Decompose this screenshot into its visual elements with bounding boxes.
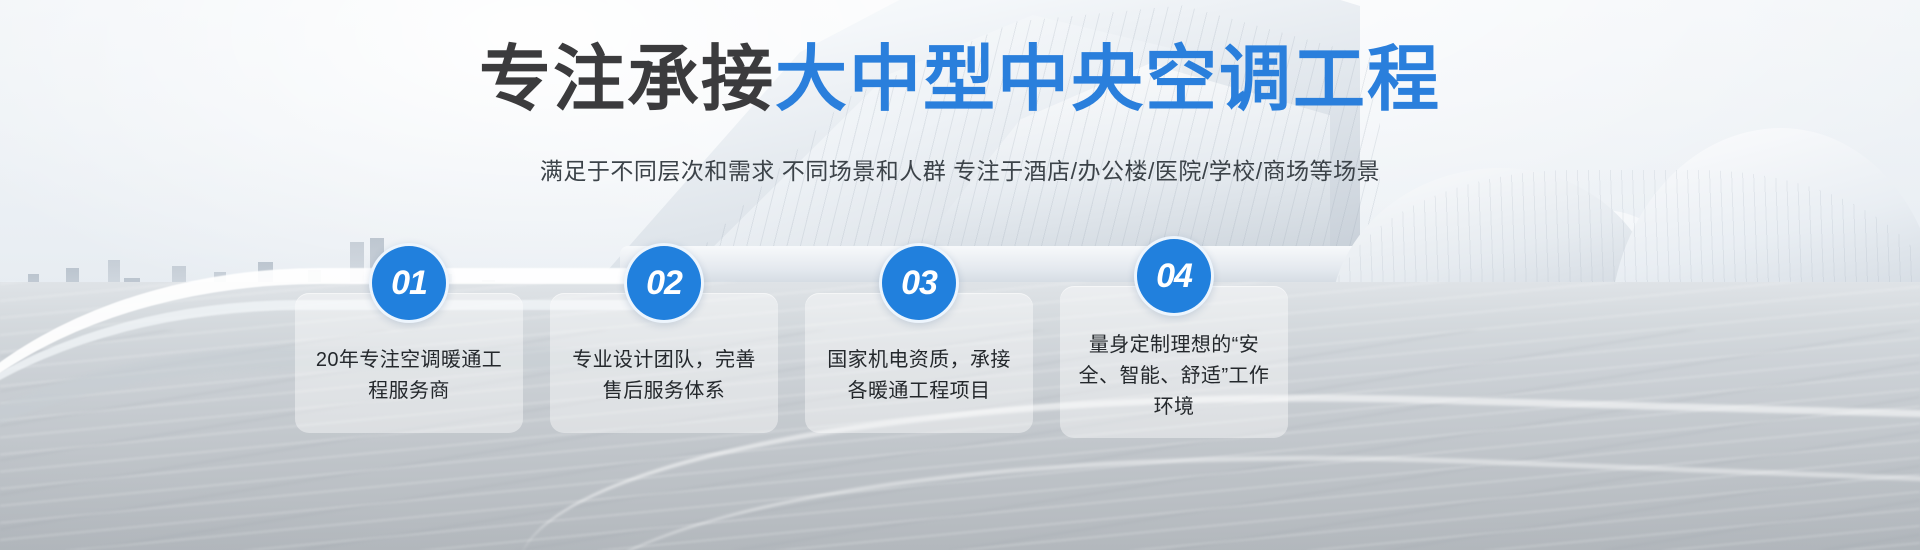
feature-card-03[interactable]: 03 国家机电资质，承接各暖通工程项目 [805,293,1033,433]
headline: 专注承接大中型中央空调工程 [0,44,1920,116]
feature-badge-03: 03 [879,243,959,323]
hero-banner: 专注承接大中型中央空调工程 满足于不同层次和需求 不同场景和人群 专注于酒店/办… [0,0,1920,550]
feature-card-03-text: 国家机电资质，承接各暖通工程项目 [819,345,1019,407]
feature-badge-01: 01 [369,243,449,323]
feature-card-04-text: 量身定制理想的“安全、智能、舒适”工作环境 [1074,330,1274,423]
feature-card-02[interactable]: 02 专业设计团队，完善售后服务体系 [550,293,778,433]
subtitle: 满足于不同层次和需求 不同场景和人群 专注于酒店/办公楼/医院/学校/商场等场景 [0,152,1920,186]
feature-card-01[interactable]: 01 20年专注空调暖通工程服务商 [295,293,523,433]
feature-card-04[interactable]: 04 量身定制理想的“安全、智能、舒适”工作环境 [1060,286,1288,438]
feature-cards: 01 20年专注空调暖通工程服务商 02 专业设计团队，完善售后服务体系 03 … [295,248,1585,433]
banner-content: 专注承接大中型中央空调工程 满足于不同层次和需求 不同场景和人群 专注于酒店/办… [0,0,1920,550]
headline-dark-text: 专注承接 [479,40,775,120]
feature-badge-02: 02 [624,243,704,323]
feature-card-01-text: 20年专注空调暖通工程服务商 [309,345,509,407]
feature-card-02-text: 专业设计团队，完善售后服务体系 [564,345,764,407]
feature-badge-04: 04 [1134,236,1214,316]
headline-accent-text: 大中型中央空调工程 [775,40,1441,120]
